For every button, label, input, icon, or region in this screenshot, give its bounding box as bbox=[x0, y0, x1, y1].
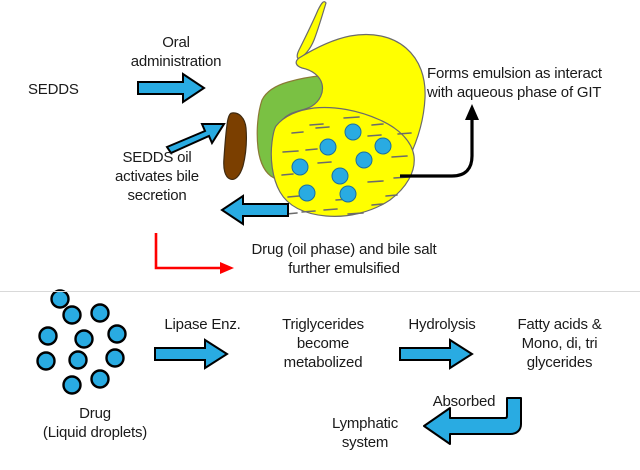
arrow-further-emulsified bbox=[156, 233, 234, 274]
stomach-dash bbox=[302, 211, 315, 212]
droplet bbox=[40, 328, 57, 345]
label-lymphatic-system: Lymphatic system bbox=[310, 414, 420, 452]
stomach-dash bbox=[368, 135, 381, 136]
droplet bbox=[64, 307, 81, 324]
droplet bbox=[107, 350, 124, 367]
stomach-dash bbox=[392, 156, 407, 157]
droplet bbox=[70, 352, 87, 369]
label-forms-emulsion: Forms emulsion as interact with aqueous … bbox=[427, 64, 640, 102]
section-divider bbox=[0, 291, 640, 292]
stomach-dash bbox=[368, 181, 383, 182]
stomach-droplet bbox=[345, 124, 361, 140]
stomach-droplet bbox=[375, 138, 391, 154]
droplet bbox=[76, 331, 93, 348]
drug-droplet-cluster bbox=[38, 291, 126, 394]
droplet bbox=[52, 291, 69, 308]
anatomy-group bbox=[224, 2, 425, 217]
label-lipase-enz: Lipase Enz. bbox=[145, 315, 260, 334]
stomach-dash bbox=[372, 124, 383, 125]
stomach-droplet bbox=[332, 168, 348, 184]
label-oral-administration: Oral administration bbox=[106, 33, 246, 71]
label-drug-oil-phase: Drug (oil phase) and bile salt further e… bbox=[236, 240, 452, 278]
stomach-dash bbox=[283, 151, 298, 152]
droplet bbox=[38, 353, 55, 370]
stomach-dash bbox=[288, 196, 299, 197]
label-triglycerides: Triglycerides become metabolized bbox=[258, 315, 388, 372]
label-drug-droplets: Drug (Liquid droplets) bbox=[20, 404, 170, 442]
stomach-droplet bbox=[340, 186, 356, 202]
stomach-dash bbox=[282, 174, 293, 175]
stomach-dash bbox=[292, 132, 303, 133]
label-absorbed: Absorbed bbox=[412, 392, 516, 411]
label-sedds-oil-bile: SEDDS oil activates bile secretion bbox=[92, 148, 222, 205]
stomach-droplet bbox=[292, 159, 308, 175]
stomach-dash bbox=[318, 162, 331, 163]
gallbladder-shape bbox=[224, 113, 247, 180]
stomach-dash bbox=[306, 149, 317, 150]
stomach-dash bbox=[372, 204, 383, 205]
droplet bbox=[64, 377, 81, 394]
stomach-dash bbox=[324, 209, 337, 210]
droplet bbox=[92, 371, 109, 388]
stomach-dash bbox=[386, 195, 397, 196]
stomach-droplet bbox=[356, 152, 372, 168]
label-hydrolysis: Hydrolysis bbox=[392, 315, 492, 334]
stomach-dash bbox=[344, 117, 359, 118]
stomach-dash bbox=[310, 124, 323, 125]
arrow-lipase bbox=[155, 340, 227, 368]
diagram-canvas: SEDDS Oral administration SEDDS oil acti… bbox=[0, 0, 640, 470]
arrow-bile-return bbox=[222, 196, 288, 224]
droplet bbox=[92, 305, 109, 322]
droplet bbox=[109, 326, 126, 343]
stomach-dash bbox=[398, 133, 411, 134]
stomach-dash bbox=[316, 127, 329, 128]
label-fatty-acids: Fatty acids & Mono, di, tri glycerides bbox=[492, 315, 627, 372]
stomach-droplet bbox=[320, 139, 336, 155]
label-sedds: SEDDS bbox=[28, 80, 138, 99]
arrow-oral-administration bbox=[138, 74, 204, 102]
arrow-hydrolysis bbox=[400, 340, 472, 368]
stomach-droplet bbox=[299, 185, 315, 201]
stomach-dash bbox=[348, 213, 363, 214]
